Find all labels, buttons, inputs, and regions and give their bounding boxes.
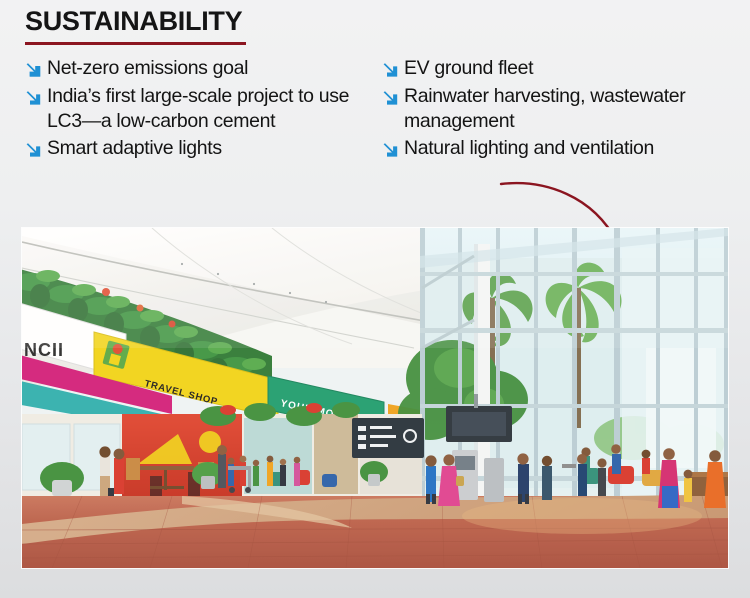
title-block: SUSTAINABILITY: [25, 8, 246, 45]
list-item: Rainwater harvesting, wastewater managem…: [381, 84, 721, 134]
list-item-label: Net-zero emissions goal: [47, 56, 248, 81]
list-item: EV ground fleet: [381, 56, 721, 82]
list-item-label: Rainwater harvesting, wastewater managem…: [404, 84, 721, 134]
arrow-down-right-icon: [381, 60, 401, 82]
bullet-column-right: EV ground fleet Rainwater harvesting, wa…: [381, 56, 721, 164]
bullet-column-left: Net-zero emissions goal India’s first la…: [24, 56, 364, 164]
arrow-down-right-icon: [24, 140, 44, 162]
arrow-down-right-icon: [381, 88, 401, 110]
list-item-label: EV ground fleet: [404, 56, 533, 81]
list-item-label: India’s first large-scale project to use…: [47, 84, 364, 134]
list-item-label: Smart adaptive lights: [47, 136, 222, 161]
list-item: Natural lighting and ventilation: [381, 136, 721, 162]
list-item: India’s first large-scale project to use…: [24, 84, 364, 134]
title-underline-rule: [25, 42, 246, 45]
arrow-down-right-icon: [24, 60, 44, 82]
terminal-interior-photo: NCII TRAVEL SHOP YOUR MOON: [22, 228, 728, 568]
page-title: SUSTAINABILITY: [25, 8, 246, 35]
arrow-down-right-icon: [381, 140, 401, 162]
arrow-down-right-icon: [24, 88, 44, 110]
list-item: Net-zero emissions goal: [24, 56, 364, 82]
list-item-label: Natural lighting and ventilation: [404, 136, 654, 161]
list-item: Smart adaptive lights: [24, 136, 364, 162]
infographic-root: SUSTAINABILITY Net-zero emissions goal I…: [0, 0, 750, 598]
